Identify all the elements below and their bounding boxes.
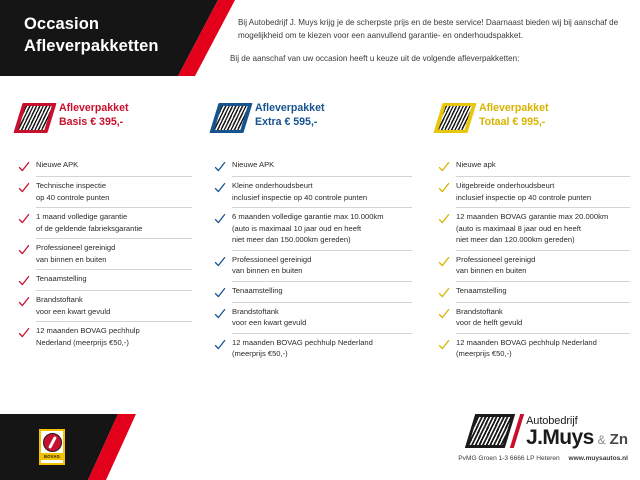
package-price: Totaal € 995,- <box>479 116 549 130</box>
feature-text: Professioneel gereinigdvan binnen en bui… <box>232 254 311 277</box>
feature-text: Brandstoftankvoor een kwart gevuld <box>36 294 110 317</box>
feature-item: 6 maanden volledige garantie max 10.000k… <box>214 208 412 251</box>
footer-website[interactable]: www.muysautos.nl <box>569 455 628 462</box>
feature-text: Nieuwe APK <box>36 159 78 171</box>
package-price: Extra € 595,- <box>255 116 325 130</box>
feature-item: Brandstoftankvoor een kwart gevuld <box>214 303 412 334</box>
feature-item: Professioneel gereinigdvan binnen en bui… <box>214 251 412 282</box>
feature-text: 6 maanden volledige garantie max 10.000k… <box>232 211 384 246</box>
checkmark-icon <box>18 160 30 172</box>
brand-name: J.Muys <box>526 427 594 448</box>
feature-item: 12 maanden BOVAG pechhulp Nederland(meer… <box>438 334 630 365</box>
package-card-extra[interactable]: Afleverpakket Extra € 595,- Nieuwe APKKl… <box>206 100 424 395</box>
checkmark-icon <box>214 286 226 298</box>
checkmark-icon <box>438 286 450 298</box>
feature-item: Professioneel gereinigdvan binnen en bui… <box>18 239 192 270</box>
feature-text: Tenaamstelling <box>232 285 283 297</box>
brand-ampersand: & <box>598 434 606 446</box>
package-title-line1: Afleverpakket <box>59 102 129 114</box>
feature-text: Professioneel gereinigdvan binnen en bui… <box>36 242 115 265</box>
feature-text: 1 maand volledige garantieof de geldende… <box>36 211 142 234</box>
page-title: Occasion Afleverpakketten <box>24 14 159 58</box>
package-title-line1: Afleverpakket <box>479 102 549 114</box>
package-header: Afleverpakket Basis € 395,- <box>18 100 192 146</box>
package-price: Basis € 395,- <box>59 116 129 130</box>
tire-tread-icon <box>18 103 52 133</box>
feature-item: Brandstoftankvoor de helft gevuld <box>438 303 630 334</box>
tire-tread-icon <box>438 103 472 133</box>
feature-text: Brandstoftankvoor de helft gevuld <box>456 306 522 329</box>
feature-item: 12 maanden BOVAG garantie max 20.000km(a… <box>438 208 630 251</box>
checkmark-icon <box>18 181 30 193</box>
package-title: Afleverpakket Totaal € 995,- <box>479 100 549 130</box>
checkmark-icon <box>438 212 450 224</box>
package-title: Afleverpakket Extra € 595,- <box>255 100 325 130</box>
checkmark-icon <box>438 255 450 267</box>
feature-text: Brandstoftankvoor een kwart gevuld <box>232 306 306 329</box>
feature-item: Technische inspectieop 40 controle punte… <box>18 177 192 208</box>
footer-address: PvMG Groen 1-3 6666 LP Heteren <box>458 455 559 462</box>
intro-block: Bij Autobedrijf J. Muys krijg je de sche… <box>230 16 630 66</box>
company-logo: Autobedrijf J.Muys & Zn PvMG Groen 1-3 6… <box>378 414 628 462</box>
bovag-label: BOVAG <box>41 453 63 460</box>
checkmark-icon <box>438 338 450 350</box>
page-title-line2: Afleverpakketten <box>24 36 159 58</box>
checkmark-icon <box>214 255 226 267</box>
feature-item: Kleine onderhoudsbeurtinclusief inspecti… <box>214 177 412 208</box>
feature-text: Uitgebreide onderhoudsbeurtinclusief ins… <box>456 180 591 203</box>
checkmark-icon <box>18 326 30 338</box>
package-title: Afleverpakket Basis € 395,- <box>59 100 129 130</box>
package-card-totaal[interactable]: Afleverpakket Totaal € 995,- Nieuwe apkU… <box>424 100 640 395</box>
feature-text: Nieuwe apk <box>456 159 496 171</box>
feature-item: Nieuwe APK <box>214 156 412 177</box>
feature-text: Tenaamstelling <box>456 285 507 297</box>
bovag-logo: BOVAG <box>39 429 65 465</box>
feature-text: Professioneel gereinigdvan binnen en bui… <box>456 254 535 277</box>
checkmark-icon <box>18 295 30 307</box>
checkmark-icon <box>214 181 226 193</box>
brand-suffix: Zn <box>610 432 628 447</box>
feature-text: Kleine onderhoudsbeurtinclusief inspecti… <box>232 180 367 203</box>
checkmark-icon <box>214 160 226 172</box>
package-card-basis[interactable]: Afleverpakket Basis € 395,- Nieuwe APKTe… <box>0 100 206 395</box>
footer-contact: PvMG Groen 1-3 6666 LP Heteren www.muysa… <box>378 455 628 462</box>
package-columns: Afleverpakket Basis € 395,- Nieuwe APKTe… <box>0 100 640 395</box>
checkmark-icon <box>214 338 226 350</box>
feature-item: Professioneel gereinigdvan binnen en bui… <box>438 251 630 282</box>
feature-list: Nieuwe APKKleine onderhoudsbeurtinclusie… <box>214 156 412 365</box>
feature-text: 12 maanden BOVAG pechhulp Nederland(meer… <box>456 337 597 360</box>
package-title-line1: Afleverpakket <box>255 102 325 114</box>
feature-item: 1 maand volledige garantieof de geldende… <box>18 208 192 239</box>
checkmark-icon <box>438 181 450 193</box>
page-title-line1: Occasion <box>24 15 99 33</box>
checkmark-icon <box>18 243 30 255</box>
checkmark-icon <box>214 212 226 224</box>
tire-tread-icon <box>470 414 510 448</box>
checkmark-icon <box>214 307 226 319</box>
feature-item: Uitgebreide onderhoudsbeurtinclusief ins… <box>438 177 630 208</box>
feature-text: 12 maanden BOVAG pechhulp Nederland(meer… <box>232 337 373 360</box>
feature-item: Brandstoftankvoor een kwart gevuld <box>18 291 192 322</box>
checkmark-icon <box>438 307 450 319</box>
feature-list: Nieuwe APKTechnische inspectieop 40 cont… <box>18 156 192 353</box>
feature-text: 12 maanden BOVAG garantie max 20.000km(a… <box>456 211 608 246</box>
feature-item: 12 maanden BOVAG pechhulp Nederland(meer… <box>214 334 412 365</box>
feature-list: Nieuwe apkUitgebreide onderhoudsbeurtinc… <box>438 156 630 365</box>
feature-item: Tenaamstelling <box>214 282 412 303</box>
feature-item: Nieuwe APK <box>18 156 192 177</box>
feature-item: 12 maanden BOVAG pechhulpNederland (meer… <box>18 322 192 353</box>
feature-item: Tenaamstelling <box>438 282 630 303</box>
checkmark-icon <box>18 212 30 224</box>
package-header: Afleverpakket Totaal € 995,- <box>438 100 630 146</box>
feature-text: Nieuwe APK <box>232 159 274 171</box>
flyer-page: Occasion Afleverpakketten Bij Autobedrij… <box>0 0 640 480</box>
checkmark-icon <box>438 160 450 172</box>
intro-paragraph-1: Bij Autobedrijf J. Muys krijg je de sche… <box>230 16 630 42</box>
feature-text: 12 maanden BOVAG pechhulpNederland (meer… <box>36 325 140 348</box>
intro-paragraph-2: Bij de aanschaf van uw occasion heeft u … <box>230 53 630 66</box>
feature-text: Tenaamstelling <box>36 273 87 285</box>
tire-tread-icon <box>214 103 248 133</box>
package-header: Afleverpakket Extra € 595,- <box>214 100 412 146</box>
checkmark-icon <box>18 274 30 286</box>
bovag-emblem-icon <box>43 433 62 452</box>
feature-item: Nieuwe apk <box>438 156 630 177</box>
feature-item: Tenaamstelling <box>18 270 192 291</box>
feature-text: Technische inspectieop 40 controle punte… <box>36 180 109 203</box>
